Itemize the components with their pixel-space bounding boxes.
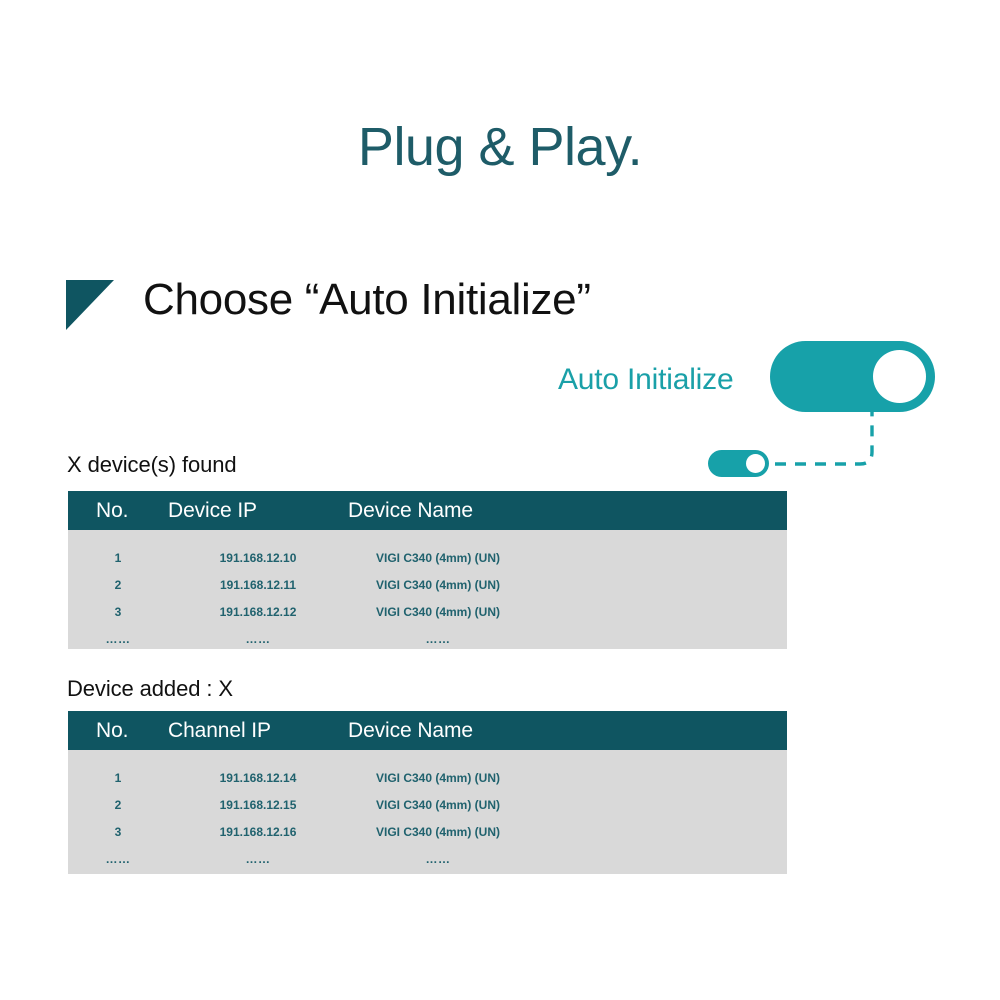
table-row[interactable]: 1 191.168.12.10 VIGI C340 (4mm) (UN) bbox=[68, 544, 787, 571]
cell-device-name-text: …… bbox=[348, 632, 528, 646]
triangle-marker-icon bbox=[66, 280, 114, 330]
table-row[interactable]: 1 191.168.12.14 VIGI C340 (4mm) (UN) bbox=[68, 764, 787, 791]
column-header-no: No. bbox=[68, 499, 168, 523]
table-header-row: No. Channel IP Device Name bbox=[68, 711, 787, 750]
connector-dashed-line bbox=[760, 405, 900, 480]
cell-device-name: …… bbox=[348, 852, 787, 866]
cell-no: 2 bbox=[68, 798, 168, 812]
auto-initialize-label: Auto Initialize bbox=[558, 363, 733, 397]
table-row[interactable]: 2 191.168.12.15 VIGI C340 (4mm) (UN) bbox=[68, 791, 787, 818]
column-header-device-ip: Device IP bbox=[168, 499, 348, 523]
table-header-row: No. Device IP Device Name bbox=[68, 491, 787, 530]
column-header-channel-ip: Channel IP bbox=[168, 719, 348, 743]
cell-no: 2 bbox=[68, 578, 168, 592]
cell-device-name-text: VIGI C340 (4mm) (UN) bbox=[348, 605, 528, 619]
cell-device-ip: 191.168.12.12 bbox=[168, 605, 348, 619]
cell-no: …… bbox=[68, 852, 168, 866]
cell-channel-ip: …… bbox=[168, 852, 348, 866]
devices-found-caption: X device(s) found bbox=[67, 452, 237, 478]
cell-channel-ip: 191.168.12.14 bbox=[168, 771, 348, 785]
toggle-knob bbox=[873, 350, 926, 403]
cell-no: …… bbox=[68, 632, 168, 646]
table-body: 1 191.168.12.14 VIGI C340 (4mm) (UN) 2 1… bbox=[68, 750, 787, 872]
cell-device-ip: 191.168.12.11 bbox=[168, 578, 348, 592]
cell-device-name-text: VIGI C340 (4mm) (UN) bbox=[348, 771, 528, 785]
cell-device-ip: …… bbox=[168, 632, 348, 646]
auto-initialize-toggle[interactable] bbox=[770, 341, 935, 412]
column-header-device-name: Device Name bbox=[348, 499, 787, 523]
page-title: Plug & Play. bbox=[0, 118, 1000, 177]
table-row-ellipsis: …… …… …… bbox=[68, 845, 787, 872]
cell-device-name: …… bbox=[348, 632, 787, 646]
cell-no: 1 bbox=[68, 551, 168, 565]
toggle-knob-small bbox=[746, 454, 765, 473]
cell-device-name: VIGI C340 (4mm) (UN) bbox=[348, 798, 787, 812]
step-heading-text: Choose “Auto Initialize” bbox=[143, 276, 591, 324]
cell-device-name: VIGI C340 (4mm) (UN) bbox=[348, 578, 787, 592]
column-header-no: No. bbox=[68, 719, 168, 743]
cell-device-name-text: VIGI C340 (4mm) (UN) bbox=[348, 551, 528, 565]
cell-channel-ip: 191.168.12.15 bbox=[168, 798, 348, 812]
table-row[interactable]: 3 191.168.12.12 VIGI C340 (4mm) (UN) bbox=[68, 598, 787, 625]
table-body: 1 191.168.12.10 VIGI C340 (4mm) (UN) 2 1… bbox=[68, 530, 787, 652]
cell-no: 3 bbox=[68, 605, 168, 619]
cell-device-name-text: VIGI C340 (4mm) (UN) bbox=[348, 578, 528, 592]
auto-initialize-toggle-small[interactable] bbox=[708, 450, 769, 477]
table-row[interactable]: 2 191.168.12.11 VIGI C340 (4mm) (UN) bbox=[68, 571, 787, 598]
cell-device-name: VIGI C340 (4mm) (UN) bbox=[348, 825, 787, 839]
cell-channel-ip: 191.168.12.16 bbox=[168, 825, 348, 839]
cell-no: 3 bbox=[68, 825, 168, 839]
cell-device-name: VIGI C340 (4mm) (UN) bbox=[348, 551, 787, 565]
devices-found-table: No. Device IP Device Name 1 191.168.12.1… bbox=[68, 491, 787, 649]
step-heading-row: Choose “Auto Initialize” bbox=[66, 276, 591, 330]
cell-no: 1 bbox=[68, 771, 168, 785]
cell-device-name: VIGI C340 (4mm) (UN) bbox=[348, 605, 787, 619]
devices-added-caption: Device added : X bbox=[67, 676, 233, 702]
column-header-device-name: Device Name bbox=[348, 719, 787, 743]
cell-device-name-text: …… bbox=[348, 852, 528, 866]
table-row[interactable]: 3 191.168.12.16 VIGI C340 (4mm) (UN) bbox=[68, 818, 787, 845]
table-row-ellipsis: …… …… …… bbox=[68, 625, 787, 652]
cell-device-name-text: VIGI C340 (4mm) (UN) bbox=[348, 798, 528, 812]
devices-added-table: No. Channel IP Device Name 1 191.168.12.… bbox=[68, 711, 787, 874]
cell-device-name: VIGI C340 (4mm) (UN) bbox=[348, 771, 787, 785]
cell-device-ip: 191.168.12.10 bbox=[168, 551, 348, 565]
cell-device-name-text: VIGI C340 (4mm) (UN) bbox=[348, 825, 528, 839]
